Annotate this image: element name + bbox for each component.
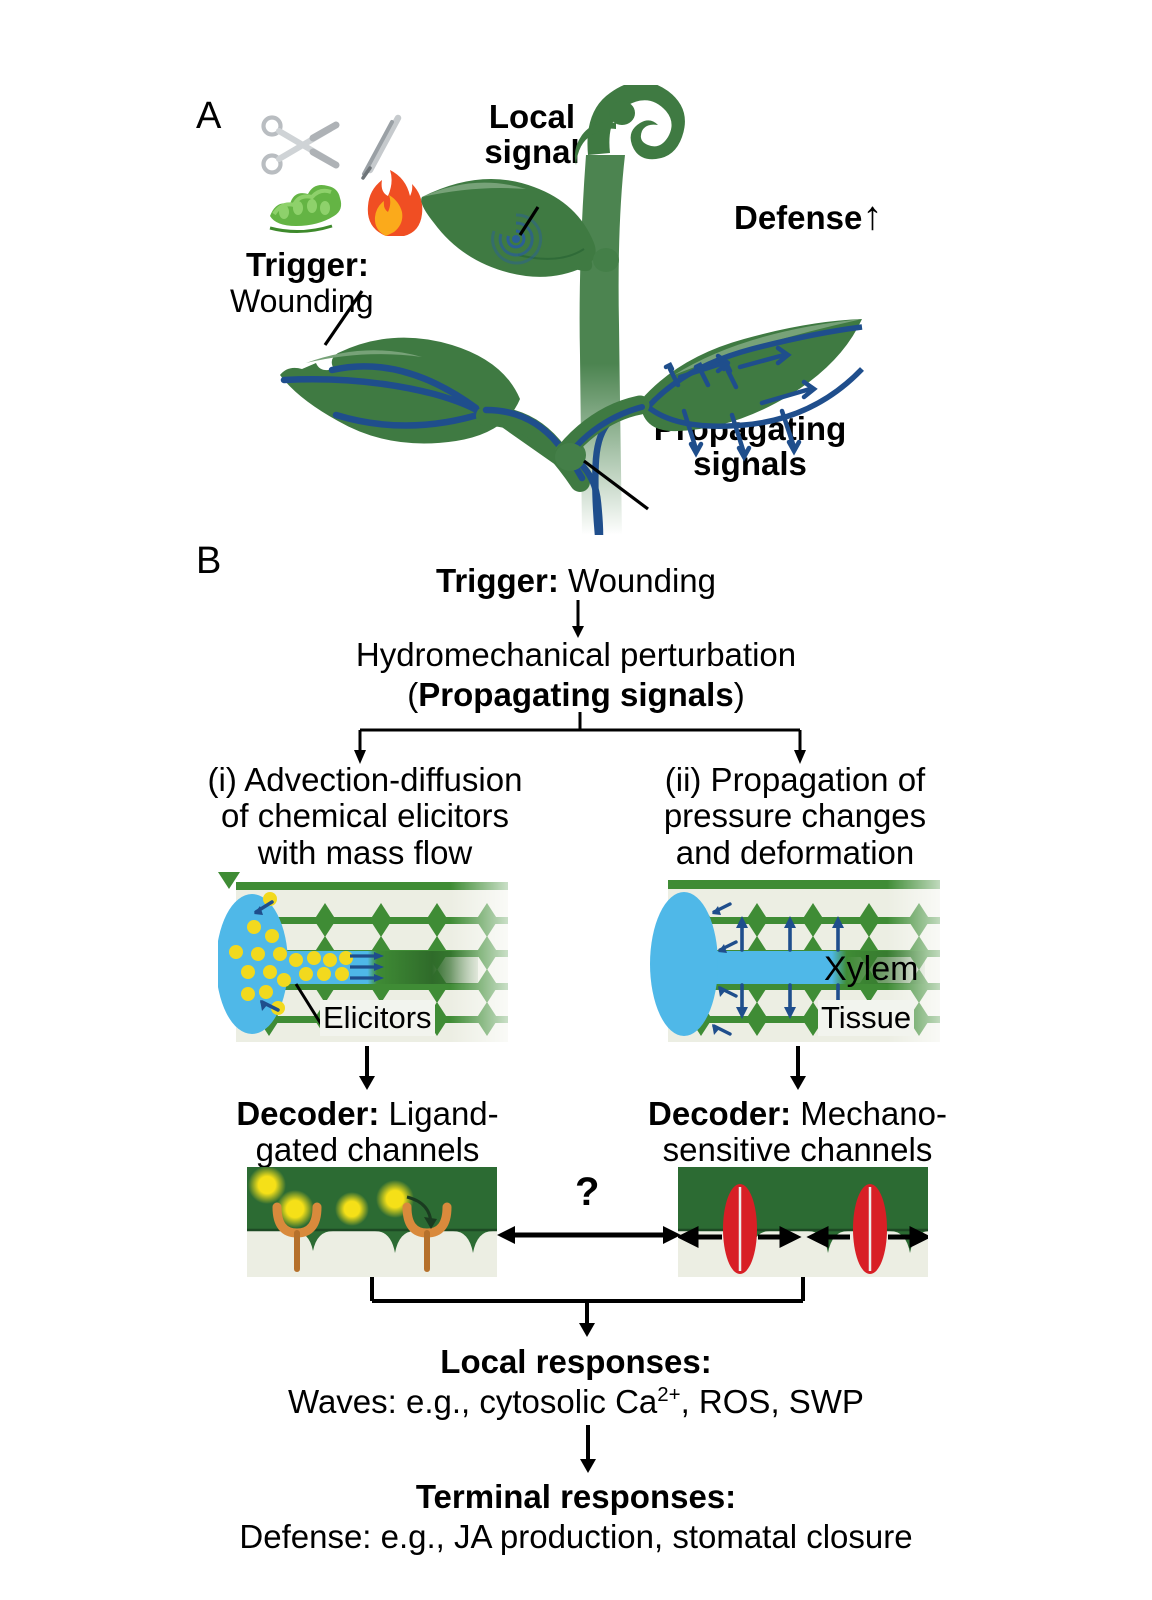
branch-left-line3: with mass flow (190, 835, 540, 871)
branch-right-line1: (ii) Propagation of (630, 762, 960, 798)
decoder-right-line2: sensitive channels (625, 1132, 970, 1168)
branch-left-text: (i) Advection-diffusion of chemical elic… (190, 762, 540, 871)
panel-a-letter: A (196, 95, 221, 138)
decoder-right-bold: Decoder: (648, 1095, 791, 1132)
double-headed-arrow (497, 1222, 681, 1248)
ligand-gated-channel-diagram (247, 1167, 497, 1277)
local-responses-body-post: , ROS, SWP (681, 1383, 864, 1420)
branch-split-connector (300, 712, 860, 768)
local-responses-title: Local responses: (286, 1343, 866, 1381)
arrow-trigger-to-hydro (566, 600, 590, 640)
plant-diagram (270, 85, 930, 535)
decoder-right-rest: Mechano- (791, 1095, 947, 1132)
panel-b-letter: B (196, 540, 221, 583)
tissue-label: Tissue (818, 1000, 914, 1036)
decoder-left-line2: gated channels (195, 1132, 540, 1168)
decoder-left-text: Decoder: Ligand- gated channels (195, 1096, 540, 1169)
xylem-label: Xylem (824, 950, 918, 989)
mechanosensitive-channel-diagram (678, 1167, 928, 1277)
local-responses-body-sup: 2+ (657, 1383, 680, 1406)
paren-close: ) (734, 676, 745, 713)
shoot-apex (575, 85, 685, 165)
local-responses-body-pre: Waves: e.g., cytosolic Ca (288, 1383, 657, 1420)
b-trigger-rest: Wounding (559, 562, 716, 599)
elicitors-label: Elicitors (320, 1000, 435, 1036)
propagating-signals-bold: Propagating signals (418, 676, 733, 713)
arrow-left-tissue-to-decoder (355, 1046, 379, 1092)
hydromechanical-line1: Hydromechanical perturbation (286, 636, 866, 674)
paren-open: ( (407, 676, 418, 713)
decoder-left-rest: Ligand- (379, 1095, 498, 1132)
branch-right-line3: and deformation (630, 835, 960, 871)
decoder-right-text: Decoder: Mechano- sensitive channels (625, 1096, 970, 1169)
branch-left-line1: (i) Advection-diffusion (190, 762, 540, 798)
stem-node (593, 248, 619, 272)
b-trigger-bold: Trigger: (436, 562, 559, 599)
local-responses-body: Waves: e.g., cytosolic Ca2+, ROS, SWP (216, 1383, 936, 1421)
merge-connector (330, 1277, 850, 1339)
question-link-group: ? (497, 1170, 681, 1260)
terminal-responses-body: Defense: e.g., JA production, stomatal c… (146, 1518, 1006, 1556)
hydromechanical-line2: (Propagating signals) (286, 676, 866, 714)
arrow-right-tissue-to-decoder (786, 1046, 810, 1092)
branch-right-line2: pressure changes (630, 798, 960, 834)
leader-trigger (325, 291, 362, 345)
branch-right-text: (ii) Propagation of pressure changes and… (630, 762, 960, 871)
question-mark: ? (575, 1170, 599, 1215)
decoder-left-bold: Decoder: (236, 1095, 379, 1132)
branch-left-line2: of chemical elicitors (190, 798, 540, 834)
local-signal-leaf (421, 179, 595, 277)
arrow-local-to-terminal (576, 1425, 600, 1475)
mass-flow-arrows (350, 952, 384, 982)
b-trigger-text: Trigger: Wounding (336, 562, 816, 600)
wounded-leaf (280, 338, 586, 482)
terminal-responses-title: Terminal responses: (286, 1478, 866, 1516)
